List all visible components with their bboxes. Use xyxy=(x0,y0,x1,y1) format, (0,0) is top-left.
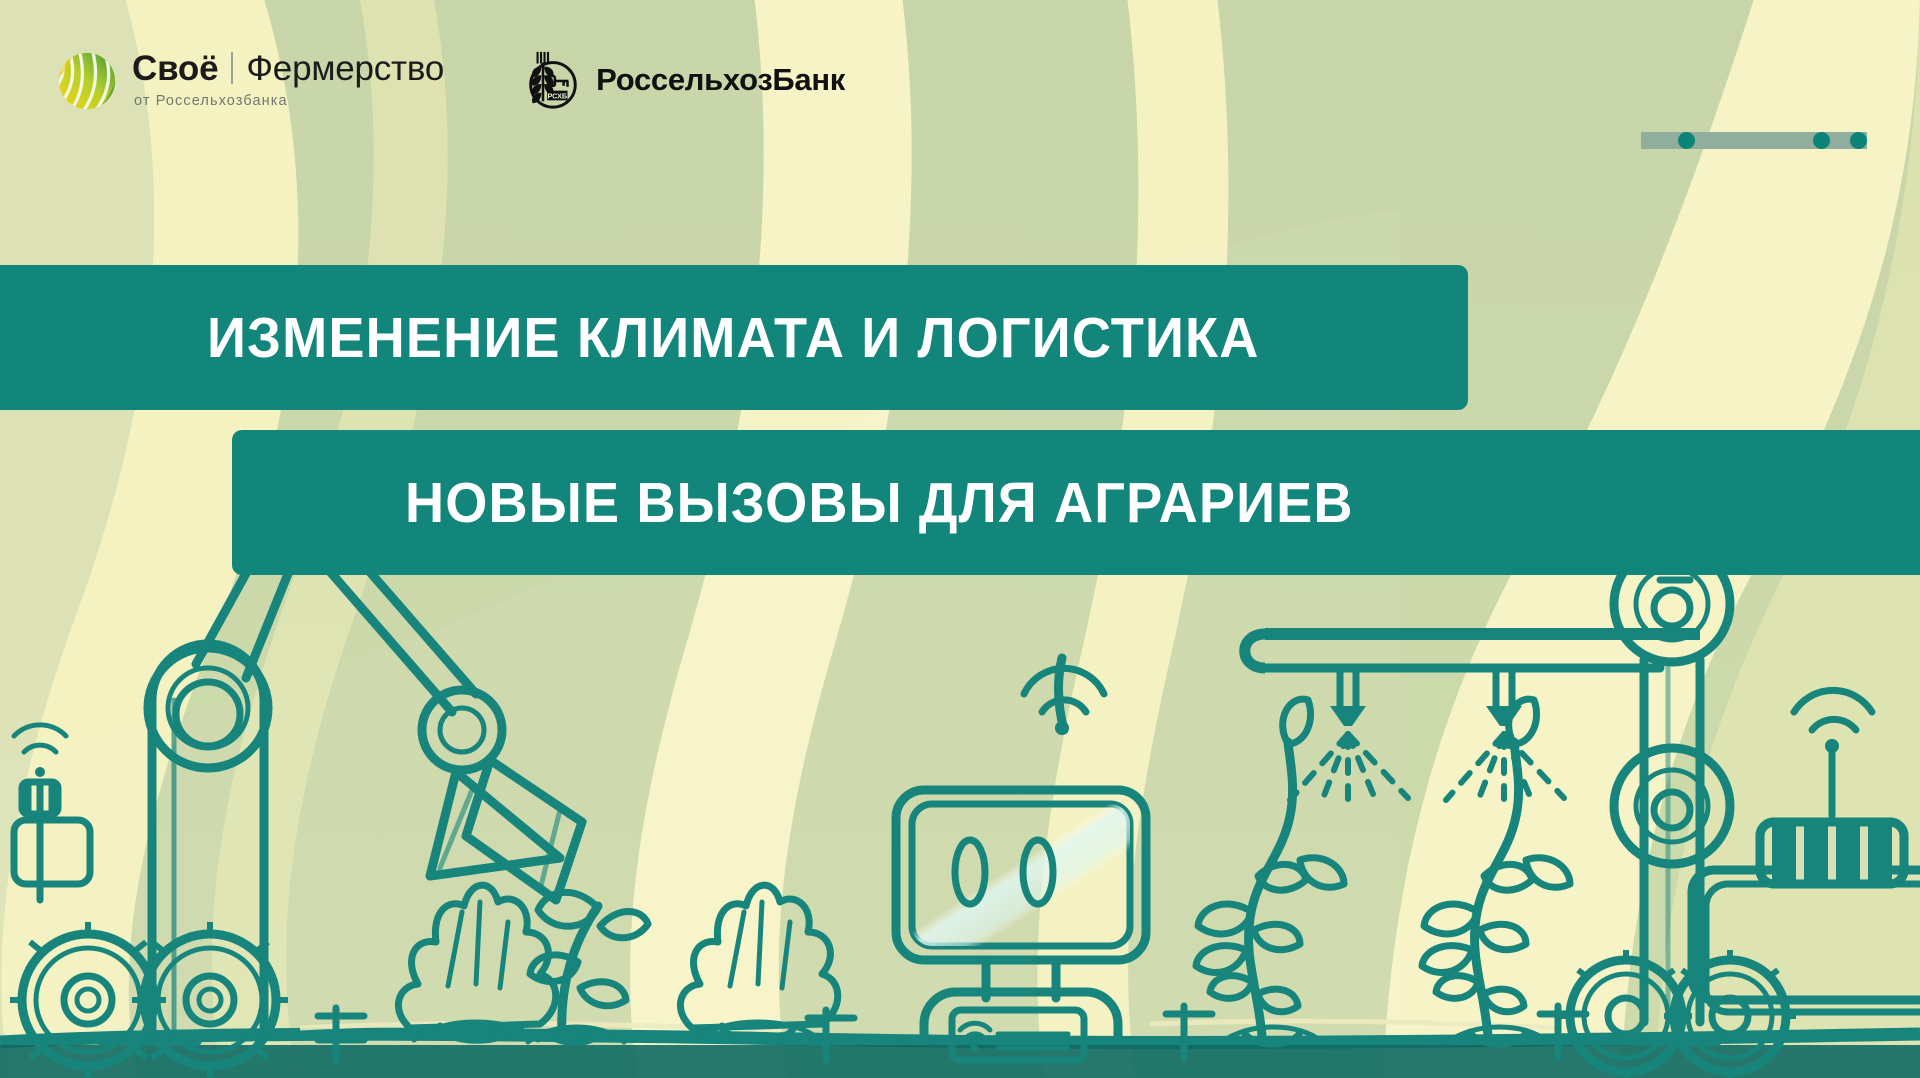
title-band-secondary: НОВЫЕ ВЫЗОВЫ ДЛЯ АГРАРИЕВ xyxy=(232,430,1920,575)
pager-dot-active[interactable] xyxy=(1715,132,1732,149)
rosselkhozbank-logo[interactable]: РСХБ РоссельхозБанк xyxy=(521,49,845,111)
title-line-1: ИЗМЕНЕНИЕ КЛИМАТА И ЛОГИСТИКА xyxy=(207,305,1259,371)
pager-dot[interactable] xyxy=(1776,132,1793,149)
pager-dot[interactable] xyxy=(1678,132,1695,149)
pager-dots[interactable] xyxy=(1641,132,1867,149)
wifi-sensor-post-left xyxy=(14,725,90,900)
farmerstvo-word: Фермерство xyxy=(246,49,444,89)
svg-text:РСХБ: РСХБ xyxy=(548,91,568,100)
robotic-arm-vehicle xyxy=(10,498,582,1078)
pager-dot[interactable] xyxy=(1813,132,1830,149)
vine-seedling-1 xyxy=(1196,699,1344,1044)
rosselkhozbank-wheat-key-emblem-icon: РСХБ xyxy=(521,49,583,111)
svoe-farmerstvo-tagline: от Россельхозбанка xyxy=(134,93,444,109)
farm-robot-monitor xyxy=(896,658,1146,1060)
svoe-farmerstvo-globe-icon xyxy=(56,50,118,112)
rosselkhozbank-name: РоссельхозБанк xyxy=(596,62,845,98)
svoe-farmerstvo-logo[interactable]: Своё Фермерство от Россельхозбанка xyxy=(56,48,444,112)
pager-dot[interactable] xyxy=(1641,132,1658,149)
title-band-primary: ИЗМЕНЕНИЕ КЛИМАТА И ЛОГИСТИКА xyxy=(0,265,1468,410)
presentation-slide: .ln { fill:none; stroke:#17857c; stroke-… xyxy=(0,0,1920,1078)
spray-right xyxy=(1446,734,1564,812)
pager-dot-active[interactable] xyxy=(1850,132,1867,149)
wheeled-gantry-unit xyxy=(1560,546,1920,1078)
brand-header: Своё Фермерство от Россельхозбанка xyxy=(56,48,845,112)
vine-seedling-2 xyxy=(1422,699,1570,1044)
svoe-word: Своё xyxy=(132,49,218,89)
logo-divider xyxy=(231,52,233,84)
title-line-2: НОВЫЕ ВЫЗОВЫ ДЛЯ АГРАРИЕВ xyxy=(405,470,1354,536)
